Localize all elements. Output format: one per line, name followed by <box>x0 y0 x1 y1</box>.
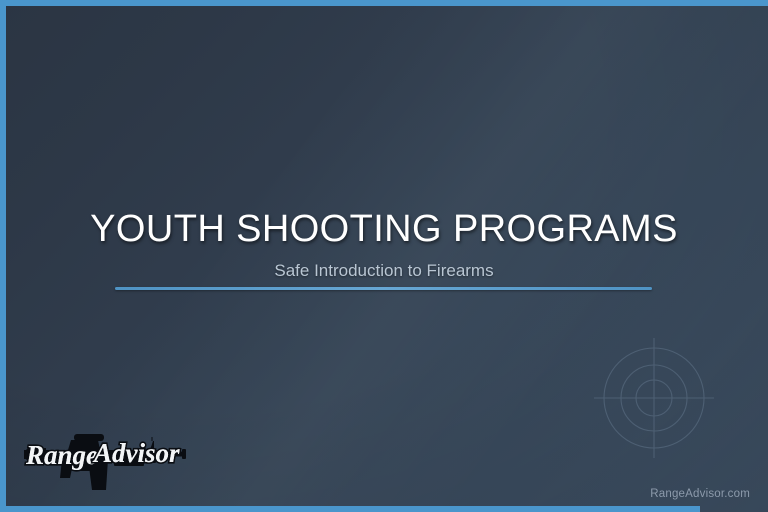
svg-text:Range: Range <box>25 440 98 470</box>
brand-wordmark: Range Range Advisor Advisor <box>25 438 180 470</box>
presentation-slide: YOUTH SHOOTING PROGRAMS Safe Introductio… <box>0 0 768 512</box>
footer-website-url: RangeAdvisor.com <box>650 488 750 500</box>
border-bottom <box>0 506 700 512</box>
brand-logo: Range Range Advisor Advisor <box>22 428 194 496</box>
border-top <box>0 0 768 6</box>
svg-text:Advisor: Advisor <box>92 438 180 468</box>
page-subtitle: Safe Introduction to Firearms <box>0 260 768 282</box>
title-block: YOUTH SHOOTING PROGRAMS Safe Introductio… <box>0 206 768 282</box>
title-divider <box>115 287 652 290</box>
page-title: YOUTH SHOOTING PROGRAMS <box>0 206 768 252</box>
